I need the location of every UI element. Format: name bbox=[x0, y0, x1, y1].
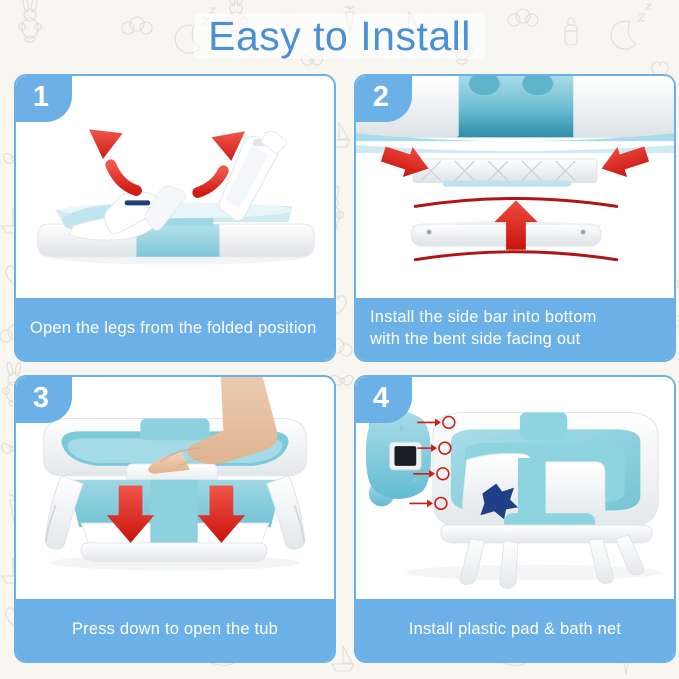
step-caption-1: Open the legs from the folded position bbox=[16, 298, 334, 360]
step-badge-4: 4 bbox=[356, 377, 412, 423]
page-title: Easy to Install bbox=[194, 14, 485, 59]
step-caption-2: Install the side bar into bottom with th… bbox=[356, 298, 674, 360]
step-caption-3: Press down to open the tub bbox=[16, 599, 334, 661]
step-badge-2: 2 bbox=[356, 76, 412, 122]
guide-arc-bottom bbox=[415, 252, 616, 260]
step-caption-1-text: Open the legs from the folded position bbox=[30, 318, 316, 340]
steps-grid: 1 Open the legs from the folded position bbox=[14, 74, 665, 666]
step-caption-4: Install plastic pad & bath net bbox=[356, 599, 674, 661]
step-caption-3-text: Press down to open the tub bbox=[72, 619, 278, 641]
arrow-curved-up-left bbox=[89, 129, 136, 190]
step-caption-4-text: Install plastic pad & bath net bbox=[409, 619, 621, 641]
page-title-container: Easy to Install bbox=[0, 0, 679, 72]
step-badge-1: 1 bbox=[16, 76, 72, 122]
step-card-4: 4 Install plastic pad & bath net bbox=[354, 375, 676, 663]
step-card-1: 1 Open the legs from the folded position bbox=[14, 74, 336, 362]
step-badge-3: 3 bbox=[16, 377, 72, 423]
step-caption-2-line2: with the bent side facing out bbox=[370, 329, 597, 351]
step-card-3: 3 Press down to open the tub bbox=[14, 375, 336, 663]
step-card-2: 2 Install the side bar into bottom with … bbox=[354, 74, 676, 362]
step-caption-2-line1: Install the side bar into bottom bbox=[370, 307, 597, 329]
